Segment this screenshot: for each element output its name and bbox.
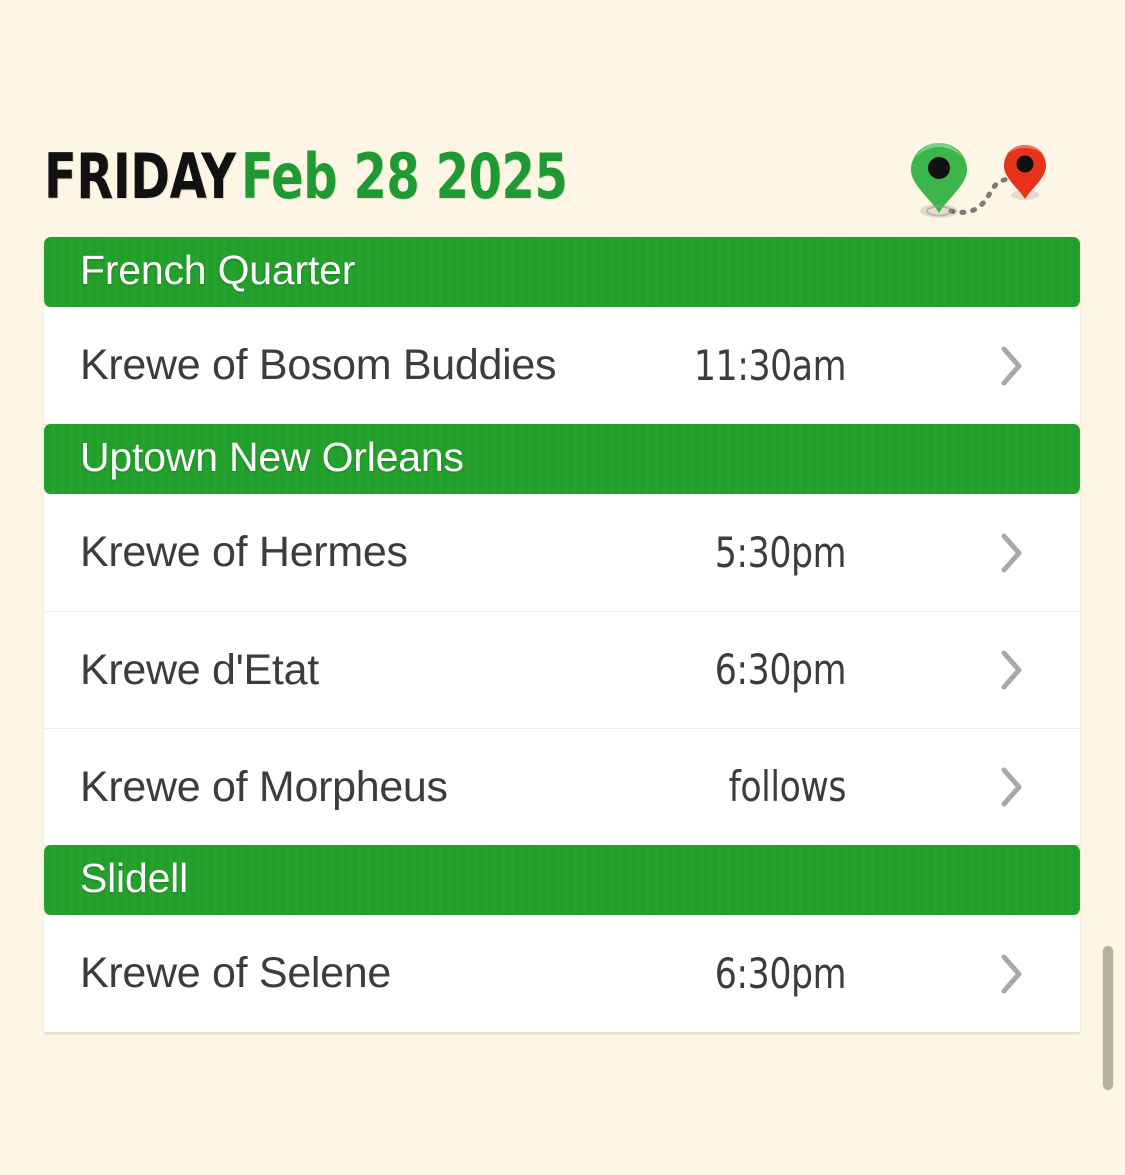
date-heading: FRIDAY Feb 28 2025 <box>44 146 620 208</box>
section-title: Uptown New Orleans <box>80 437 464 478</box>
parade-schedule-list: French QuarterKrewe of Bosom Buddies11:3… <box>44 237 1080 1033</box>
map-pins-route-icon[interactable] <box>907 137 1057 223</box>
chevron-right-icon[interactable] <box>999 765 1025 809</box>
parade-name: Krewe d'Etat <box>80 649 319 692</box>
parade-name: Krewe of Morpheus <box>80 766 448 809</box>
parade-name: Krewe of Hermes <box>80 531 408 574</box>
parade-time: 6:30pm <box>623 649 846 691</box>
parade-name: Krewe of Bosom Buddies <box>80 344 556 387</box>
parade-rows: Krewe of Bosom Buddies11:30am <box>44 307 1080 424</box>
parade-time: 6:30pm <box>623 953 846 995</box>
parade-row[interactable]: Krewe of Morpheusfollows <box>44 728 1080 845</box>
day-name: FRIDAY <box>44 146 236 208</box>
schedule-group: Uptown New OrleansKrewe of Hermes5:30pmK… <box>44 424 1080 845</box>
date-rest: Feb 28 2025 <box>241 146 567 208</box>
parade-row[interactable]: Krewe of Selene6:30pm <box>44 915 1080 1032</box>
section-title: French Quarter <box>80 250 355 291</box>
vertical-scrollbar[interactable] <box>1103 946 1113 1090</box>
parade-rows: Krewe of Hermes5:30pmKrewe d'Etat6:30pmK… <box>44 494 1080 845</box>
schedule-group: SlidellKrewe of Selene6:30pm <box>44 845 1080 1033</box>
chevron-right-icon[interactable] <box>999 648 1025 692</box>
parade-row[interactable]: Krewe of Bosom Buddies11:30am <box>44 307 1080 424</box>
page-header: FRIDAY Feb 28 2025 <box>0 132 1125 222</box>
section-header-uptown-new-orleans: Uptown New Orleans <box>44 424 1080 494</box>
section-header-slidell: Slidell <box>44 845 1080 915</box>
parade-rows: Krewe of Selene6:30pm <box>44 915 1080 1033</box>
section-header-french-quarter: French Quarter <box>44 237 1080 307</box>
parade-row[interactable]: Krewe d'Etat6:30pm <box>44 611 1080 728</box>
scrollbar-thumb[interactable] <box>1103 946 1113 1090</box>
section-title: Slidell <box>80 858 188 899</box>
chevron-right-icon[interactable] <box>999 344 1025 388</box>
chevron-right-icon[interactable] <box>999 952 1025 996</box>
parade-time: 11:30am <box>623 345 846 387</box>
parade-time: 5:30pm <box>623 532 846 574</box>
parade-name: Krewe of Selene <box>80 952 391 995</box>
parade-time: follows <box>623 766 846 808</box>
schedule-group: French QuarterKrewe of Bosom Buddies11:3… <box>44 237 1080 424</box>
parade-row[interactable]: Krewe of Hermes5:30pm <box>44 494 1080 611</box>
chevron-right-icon[interactable] <box>999 531 1025 575</box>
